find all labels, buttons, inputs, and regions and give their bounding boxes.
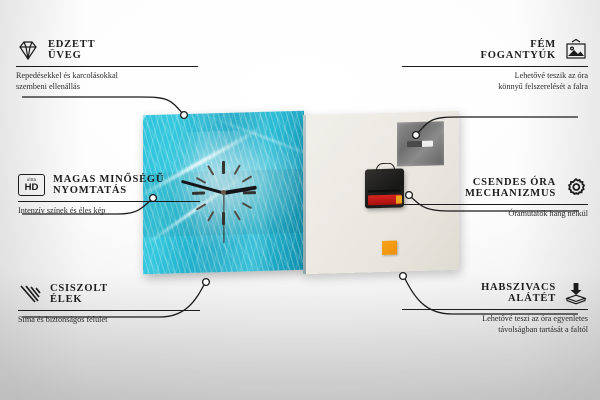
glass-edge [303,115,306,274]
polished-edges-icon [18,282,42,306]
feature-title-line1: CSENDES ÓRA [473,177,556,188]
picture-hanger-icon [564,38,588,62]
feature-description-line1: Repedésekkel és karcolásokkal [16,70,198,81]
product-feature-infographic: EDZETT ÜVEG Repedésekkel és karcolásokka… [0,0,600,400]
feature-polished-edges: CSISZOLT ÉLEK Sima és biztonságos felüle… [18,282,200,325]
foam-pad-sample [382,241,397,255]
feature-title-line2: ÜVEG [48,50,95,61]
feature-title-line1: HABSZIVACS [481,282,556,293]
divider [402,309,588,310]
battery-compartment [368,194,401,205]
divider [402,66,588,67]
feature-title-line2: FOGANTYÚK [481,50,556,61]
feature-description-line2: könnyű felszerelését a falra [402,81,588,92]
connector-node-foam [400,273,407,280]
divider [18,201,200,202]
hanger-slot [407,141,433,148]
mechanism-handle [376,163,395,172]
metal-hanger-plate [397,121,444,166]
ultra-hd-badge-icon: ultra HD [18,174,45,196]
feature-title-line2: ALÁTÉT [508,293,556,304]
mechanism-seam [368,189,401,192]
feature-description-line1: Sima és biztonságos felület [18,314,200,325]
feature-foam-pad: HABSZIVACS ALÁTÉT Lehetővé teszi az óra … [402,281,588,336]
clock-mechanism-module [365,168,404,208]
divider [402,204,588,205]
feature-description-line1: Lehetővé teszi az óra egyenletes [402,313,588,324]
feature-description-line2: szembeni ellenállás [16,81,198,92]
badge-large-text: HD [25,183,39,193]
feature-title-line2: MECHANIZMUS [465,188,556,199]
feature-title-line2: NYOMTATÁS [53,185,164,196]
clock-second-hand [223,192,224,242]
diamond-icon [16,38,40,62]
divider [18,310,200,311]
feature-high-quality-print: ultra HD MAGAS MINŐSÉGŰ NYOMTATÁS Intenz… [18,174,200,216]
gear-icon [564,176,588,200]
foam-pad-icon [564,281,588,305]
feature-title-line1: EDZETT [48,39,95,50]
divider [16,66,198,67]
feature-title-line1: FÉM [530,39,556,50]
connector-node-edges [203,279,210,286]
feature-description-line1: Intenzív színek és éles kép [18,205,200,216]
feature-description-line1: Óramutatók hang nélkül [402,208,588,219]
feature-description-line2: távolságban tartását a faltól [402,324,588,335]
feature-title-line1: CSISZOLT [50,283,108,294]
feature-description-line1: Lehetővé teszik az óra [402,70,588,81]
feature-metal-handles: FÉM FOGANTYÚK Lehetővé teszik az óra kön… [402,38,588,93]
feature-tempered-glass: EDZETT ÜVEG Repedésekkel és karcolásokka… [16,38,198,93]
feature-silent-mechanism: CSENDES ÓRA MECHANIZMUS Óramutatók hang … [402,176,588,219]
feature-title-line1: MAGAS MINŐSÉGŰ [53,174,164,185]
connector-tempered-glass [22,97,183,114]
feature-title-line2: ÉLEK [50,294,108,305]
